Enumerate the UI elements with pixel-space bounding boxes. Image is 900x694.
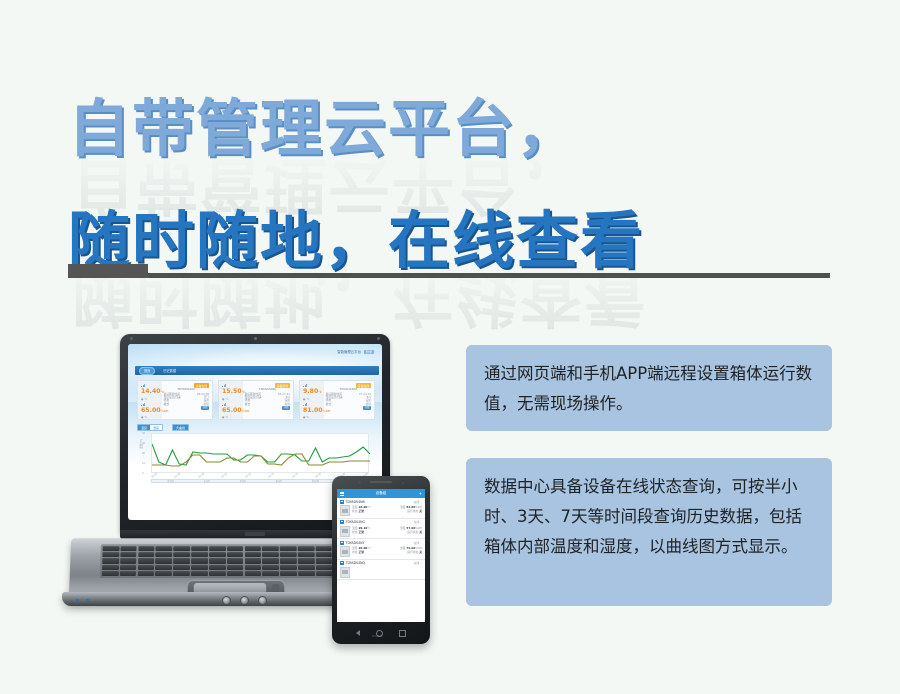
card-temp-sub: ● ℃	[222, 397, 241, 401]
audio-port-3	[258, 596, 267, 605]
device-thumbnail	[340, 546, 350, 557]
chart-xtick: 15:00	[174, 472, 181, 479]
keyboard-key[interactable]	[298, 571, 315, 576]
card-detail-button[interactable]: 详情	[201, 406, 209, 409]
device-id: TDYADS4NY	[346, 541, 412, 545]
panel-1-text: 通过网页端和手机APP端远程设置箱体运行数值，无需现场操作。	[484, 359, 814, 419]
keyboard-key[interactable]	[209, 559, 226, 564]
earpiece-speaker	[370, 481, 392, 483]
device-status: 在线…	[414, 520, 422, 524]
chart-svg	[152, 434, 370, 474]
card-humidity: 65.00%RH	[222, 407, 241, 415]
promo-page: 自带管理云平台， 随时随地，在线查看 自带管理云平台， 随时随地，在线查看 智能…	[0, 0, 900, 694]
keyboard-key[interactable]	[227, 546, 244, 551]
keyboard-key[interactable]	[262, 546, 279, 551]
chart-xtick: 15:00	[198, 472, 205, 479]
list-item-body: 温度 26.00℃ 湿度 52.00%RH 状态 正常 运行状态 关	[340, 505, 422, 516]
keyboard-key[interactable]	[173, 559, 190, 564]
card-humidity: 65.00%RH	[141, 407, 160, 415]
state-line: 状态 正常 运行状态 关	[352, 509, 422, 513]
state-label: 状态 正常	[352, 530, 364, 534]
divider-line	[148, 273, 830, 278]
keyboard-key[interactable]	[174, 546, 191, 551]
keyboard-key[interactable]	[191, 565, 208, 570]
card-hum-sub: ● %	[303, 415, 322, 419]
proximity-sensor-icon	[402, 482, 404, 484]
device-values	[352, 567, 422, 578]
card-temperature: 15.50℃	[222, 388, 241, 396]
keyboard-key[interactable]	[209, 571, 226, 576]
keyboard-key[interactable]	[137, 571, 154, 576]
device-id: TDYADS4NB	[346, 500, 412, 504]
device-values: 温度 26.00℃ 湿度 52.00%RH 状态 正常 运行状态 关	[352, 505, 422, 516]
card-temp-sub: ● ℃	[303, 397, 322, 401]
range-option[interactable]: 半小时	[167, 479, 174, 483]
hinge-notch	[245, 532, 265, 536]
platform-title: 智能管理云平台	[337, 349, 361, 354]
signal-icon	[141, 384, 146, 387]
keyboard-key[interactable]	[315, 552, 332, 557]
list-item-body: 温度 29.10℃ 湿度 57.00%RH 状态 正常 运行状态 关	[340, 526, 422, 537]
keyboard-key[interactable]	[102, 565, 119, 570]
phone-brand: HUAWEI	[372, 635, 382, 638]
card-temperature: 9.80℃	[303, 388, 322, 396]
recents-icon[interactable]	[399, 630, 406, 637]
keyboard-key[interactable]	[138, 546, 155, 551]
signal-icon	[222, 403, 227, 406]
panel-2-text: 数据中心具备设备在线状态查询，可按半小时、3天、7天等时间段查询历史数据，包括箱…	[484, 472, 814, 562]
chart-ytick: 40	[142, 432, 145, 435]
keyboard-key[interactable]	[316, 565, 333, 570]
toggle-group[interactable]: 温度湿度	[137, 424, 163, 431]
device-thumbnail	[340, 505, 350, 516]
card-action-row: 详情	[164, 406, 209, 409]
status-badge: 设备在线	[275, 383, 290, 388]
card-temp-sub: ● ℃	[141, 397, 160, 401]
webcam-icon	[254, 337, 257, 340]
list-item-body	[340, 567, 422, 578]
keyboard-key[interactable]	[298, 552, 315, 557]
chart-toggle-row: 温度湿度大曲线	[137, 424, 189, 431]
panel-remote-setting: 通过网页端和手机APP端远程设置箱体运行数值，无需现场操作。	[466, 345, 832, 431]
chart-xtick: 15:00	[292, 472, 299, 479]
card-temperature: 14.40℃	[141, 388, 160, 396]
card-row-key: 模式	[326, 403, 331, 406]
mode-label: 运行状态 关	[407, 550, 422, 554]
chart-xtick: 15:00	[268, 472, 275, 479]
chart-xtick: 15:00	[221, 472, 228, 479]
device-values: 温度 26.00℃ 湿度 79.00%RH 状态 正常 运行状态 关	[352, 546, 422, 557]
device-flag-icon	[340, 561, 344, 565]
keyboard-key[interactable]	[244, 546, 261, 551]
status-led	[86, 599, 89, 602]
divider-block	[68, 264, 148, 278]
phone-screen: 设备组 + TDYADS4NB 在线… 温度 26.00℃ 湿度 52.00%R…	[337, 489, 425, 622]
keyboard-key[interactable]	[227, 552, 244, 557]
keyboard-key[interactable]	[120, 559, 137, 564]
range-option[interactable]: 6小时	[276, 479, 282, 483]
device-card[interactable]: 9.80℃ ● ℃ 81.00%RH ● % TDYADS4IM 最后刷新时间0…	[299, 380, 375, 420]
keyboard-key[interactable]	[315, 546, 332, 551]
keyboard-key[interactable]	[298, 565, 315, 570]
keyboard-key[interactable]	[120, 571, 137, 576]
front-camera-icon	[358, 481, 361, 484]
device-status: 在线…	[414, 500, 422, 504]
audio-port-1	[222, 596, 231, 605]
keyboard-key[interactable]	[191, 552, 208, 557]
range-option[interactable]: 3小时	[240, 479, 246, 483]
list-item-body: 温度 26.00℃ 湿度 79.00%RH 状态 正常 运行状态 关	[340, 546, 422, 557]
keyboard-key[interactable]	[138, 559, 155, 564]
card-action-row: 详情	[245, 406, 290, 409]
keyboard-key[interactable]	[156, 552, 173, 557]
device-flag-icon	[340, 520, 344, 524]
nav-pill-home[interactable]: 首页	[139, 367, 155, 375]
signal-icon	[303, 384, 308, 387]
keyboard-key[interactable]	[155, 565, 172, 570]
signal-icon	[222, 384, 227, 387]
keyboard-key[interactable]	[262, 559, 279, 564]
toggle-option[interactable]: 大曲线	[173, 425, 188, 430]
chart-xtick: 15:00	[315, 472, 322, 479]
device-thumbnail	[340, 567, 350, 578]
device-flag-icon	[340, 541, 344, 545]
signal-icon	[303, 403, 308, 406]
chart-series-湿度	[152, 454, 370, 466]
plus-icon[interactable]: +	[419, 491, 422, 496]
keyboard-key[interactable]	[262, 571, 279, 576]
keyboard-key[interactable]	[120, 565, 137, 570]
toggle-group[interactable]: 大曲线	[172, 424, 189, 431]
list-item[interactable]: TDYADS4NG 在线… 温度 29.10℃ 湿度 57.00%RH 状态 正…	[337, 519, 425, 540]
device-thumbnail	[340, 526, 350, 537]
card-row-key: 模式	[245, 403, 250, 406]
keyboard-key[interactable]	[262, 552, 279, 557]
list-item-header: TDYADS4NG 在线…	[340, 520, 422, 524]
keyboard-key[interactable]	[191, 546, 208, 551]
phone-illustration: 设备组 + TDYADS4NB 在线… 温度 26.00℃ 湿度 52.00%R…	[332, 476, 430, 644]
toggle-option[interactable]: 温度	[138, 425, 150, 430]
keyboard-key[interactable]	[245, 571, 262, 576]
keyboard-key[interactable]	[138, 565, 155, 570]
app-bar-title: 设备组	[376, 491, 387, 496]
device-values: 温度 29.10℃ 湿度 57.00%RH 状态 正常 运行状态 关	[352, 526, 422, 537]
chart-plot-area	[151, 433, 369, 473]
state-line: 状态 正常 运行状态 关	[352, 550, 422, 554]
card-metrics: 9.80℃ ● ℃ 81.00%RH ● %	[300, 381, 324, 419]
card-row-key: 模式	[164, 403, 169, 406]
state-label: 状态 正常	[352, 509, 364, 513]
keyboard-key[interactable]	[316, 571, 333, 576]
card-action-row: 详情	[326, 406, 371, 409]
headline-line1: 自带管理云平台，	[68, 78, 580, 168]
screen-topbar: 智能管理云平台 登录	[337, 349, 374, 354]
keyboard-key[interactable]	[298, 546, 315, 551]
list-item[interactable]: TDYADS4NQ 在线…	[337, 560, 425, 581]
range-option[interactable]: 12小时	[312, 479, 319, 483]
keyboard-key[interactable]	[280, 571, 297, 576]
keyboard-key[interactable]	[280, 546, 297, 551]
chart-xtick: 15:00	[245, 472, 252, 479]
card-detail-button[interactable]: 详情	[363, 406, 371, 409]
device-id: TDYADS4NQ	[346, 561, 412, 565]
list-item-header: TDYADS4NY 在线…	[340, 541, 422, 545]
keyboard-key[interactable]	[298, 559, 315, 564]
device-card[interactable]: 14.40℃ ● ℃ 65.00%RH ● % TDYADS4AU 最后刷新时间…	[137, 380, 213, 420]
chart-ytick: 10	[142, 462, 145, 465]
keyboard-key[interactable]	[280, 552, 297, 557]
keyboard-key[interactable]	[227, 571, 244, 576]
keyboard-key[interactable]	[103, 546, 120, 551]
signal-icon	[141, 403, 146, 406]
range-option[interactable]: 1小时	[204, 479, 210, 483]
list-item[interactable]: TDYADS4NY 在线… 温度 26.00℃ 湿度 79.00%RH 状态 正…	[337, 539, 425, 560]
chart-ytick: 0	[142, 472, 144, 475]
lid-screw-right	[377, 337, 380, 340]
card-detail-button[interactable]: 详情	[282, 406, 290, 409]
device-status: 在线…	[414, 561, 422, 565]
login-chip[interactable]: 登录	[364, 350, 374, 354]
keyboard-key[interactable]	[173, 565, 190, 570]
keyboard-key[interactable]	[173, 571, 190, 576]
keyboard-key[interactable]	[156, 546, 173, 551]
chart-ytick: 30	[142, 442, 145, 445]
section-divider	[68, 264, 830, 278]
keyboard-key[interactable]	[156, 559, 173, 564]
keyboard-key[interactable]	[262, 565, 279, 570]
device-list: TDYADS4NB 在线… 温度 26.00℃ 湿度 52.00%RH 状态 正…	[337, 498, 425, 580]
keyboard-key[interactable]	[102, 552, 119, 557]
keyboard-key[interactable]	[316, 559, 333, 564]
keyboard-key[interactable]	[280, 565, 297, 570]
keyboard-key[interactable]	[280, 559, 297, 564]
back-icon[interactable]	[356, 630, 360, 636]
card-humidity: 81.00%RH	[303, 407, 322, 415]
chart-ytick: 20	[142, 452, 145, 455]
keyboard-key[interactable]	[120, 546, 137, 551]
device-card-list: 14.40℃ ● ℃ 65.00%RH ● % TDYADS4AU 最后刷新时间…	[137, 380, 375, 420]
keyboard-key[interactable]	[191, 559, 208, 564]
keyboard-key[interactable]	[244, 565, 261, 570]
android-nav-bar	[332, 622, 430, 644]
card-hum-sub: ● %	[222, 415, 241, 419]
keyboard-key[interactable]	[209, 552, 226, 557]
list-item-header: TDYADS4NQ 在线…	[340, 561, 422, 565]
keyboard-key[interactable]	[102, 571, 119, 576]
card-hum-sub: ● %	[141, 415, 160, 419]
dashboard-navbar: 首页 历史数据	[135, 366, 379, 375]
mode-label: 运行状态 关	[407, 509, 422, 513]
keyboard-key[interactable]	[173, 552, 190, 557]
keyboard-key[interactable]	[244, 552, 261, 557]
status-badge: 设备在线	[356, 383, 371, 388]
device-card[interactable]: 15.50℃ ● ℃ 65.00%RH ● % TDYADS4NJ 最后刷新时间…	[218, 380, 294, 420]
device-id: TDYADS4NG	[346, 520, 412, 524]
toggle-option[interactable]: 湿度	[150, 425, 162, 430]
mode-label: 运行状态 关	[407, 530, 422, 534]
nav-tab-history[interactable]: 历史数据	[163, 368, 176, 373]
state-label: 状态 正常	[352, 550, 364, 554]
headline-block: 自带管理云平台， 随时随地，在线查看 自带管理云平台， 随时随地，在线查看	[0, 34, 900, 254]
list-item-header: TDYADS4NB 在线…	[340, 500, 422, 504]
audio-port-2	[240, 596, 249, 605]
phone-top-bezel	[332, 476, 430, 489]
status-badge: 设备在线	[194, 383, 209, 388]
keyboard-key[interactable]	[155, 571, 172, 576]
keyboard-key[interactable]	[209, 546, 226, 551]
state-line: 状态 正常 运行状态 关	[352, 530, 422, 534]
card-metrics: 15.50℃ ● ℃ 65.00%RH ● %	[219, 381, 243, 419]
device-status: 在线…	[414, 541, 422, 545]
keyboard-key[interactable]	[120, 552, 137, 557]
keyboard-key[interactable]	[102, 559, 119, 564]
panel-data-center: 数据中心具备设备在线状态查询，可按半小时、3天、7天等时间段查询历史数据，包括箱…	[466, 458, 832, 606]
keyboard-key[interactable]	[191, 571, 208, 576]
power-led	[76, 599, 79, 602]
chart-xtick: 15:00	[151, 472, 158, 479]
keyboard-key[interactable]	[227, 559, 244, 564]
keyboard-key[interactable]	[209, 565, 226, 570]
card-metrics: 14.40℃ ● ℃ 65.00%RH ● %	[138, 381, 162, 419]
list-item[interactable]: TDYADS4NB 在线… 温度 26.00℃ 湿度 52.00%RH 状态 正…	[337, 498, 425, 519]
device-flag-icon	[340, 500, 344, 504]
keyboard-key[interactable]	[227, 565, 244, 570]
keyboard-key[interactable]	[138, 552, 155, 557]
keyboard-key[interactable]	[244, 559, 261, 564]
hamburger-icon[interactable]	[340, 492, 344, 496]
app-bar: 设备组 +	[337, 489, 425, 498]
laptop-keyboard[interactable]	[100, 544, 371, 578]
lid-screw-left	[130, 337, 133, 340]
